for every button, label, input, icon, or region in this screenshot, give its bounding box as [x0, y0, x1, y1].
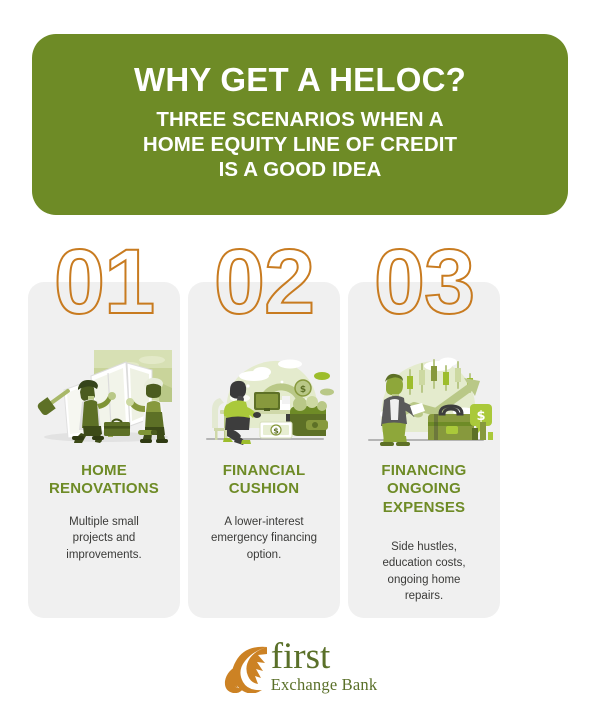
- card-number-03: 03: [348, 236, 500, 328]
- businessman-briefcase-growth-chart-icon: $: [354, 340, 494, 452]
- home-renovation-workers-window-icon: [34, 340, 174, 452]
- card-body-financial-cushion: A lower-interest emergency financing opt…: [198, 514, 330, 563]
- page-subtitle-line-2: HOME EQUITY LINE OF CREDIT: [143, 132, 457, 157]
- scenario-card-financing-ongoing-expenses: 03: [348, 282, 500, 618]
- card-body-line-4: repairs.: [358, 588, 490, 604]
- card-number-02: 02: [188, 236, 340, 328]
- page-subtitle-line-3: IS A GOOD IDEA: [143, 157, 457, 182]
- logo-secondary-text: Exchange Bank: [271, 676, 378, 693]
- card-heading-line-1: FINANCING: [354, 462, 494, 480]
- card-heading-financing-ongoing-expenses: FINANCING ONGOING EXPENSES: [354, 462, 494, 517]
- card-body-line-1: Side hustles,: [358, 539, 490, 555]
- footer-logo: first Exchange Bank: [0, 636, 600, 698]
- logo-lockup: first Exchange Bank: [223, 640, 378, 693]
- header-banner: WHY GET A HELOC? THREE SCENARIOS WHEN A …: [32, 34, 568, 215]
- card-body-line-2: emergency financing: [198, 530, 330, 546]
- svg-text:$: $: [273, 427, 279, 436]
- card-body-line-1: A lower-interest: [198, 514, 330, 530]
- leaf-feather-icon: [223, 643, 275, 693]
- card-heading-financial-cushion: FINANCIAL CUSHION: [194, 462, 334, 499]
- scenario-card-financial-cushion: 02: [188, 282, 340, 618]
- card-heading-line-2: ONGOING: [354, 480, 494, 498]
- card-body-line-2: projects and: [38, 530, 170, 546]
- card-body-home-renovations: Multiple small projects and improvements…: [38, 514, 170, 563]
- card-body-line-2: education costs,: [358, 555, 490, 571]
- card-body-line-3: improvements.: [38, 547, 170, 563]
- scenario-card-home-renovations: 01: [28, 282, 180, 618]
- woman-at-desk-wallet-money-icon: $ $: [194, 340, 334, 452]
- card-heading-line-1: HOME: [34, 462, 174, 480]
- card-body-line-3: option.: [198, 547, 330, 563]
- card-number-01: 01: [28, 236, 180, 328]
- logo-text: first Exchange Bank: [271, 640, 378, 693]
- card-body-line-1: Multiple small: [38, 514, 170, 530]
- page-subtitle-line-1: THREE SCENARIOS WHEN A: [143, 107, 457, 132]
- card-heading-line-1: FINANCIAL: [194, 462, 334, 480]
- card-heading-line-3: EXPENSES: [354, 499, 494, 517]
- card-heading-home-renovations: HOME RENOVATIONS: [34, 462, 174, 499]
- logo-primary-text: first: [271, 640, 378, 675]
- card-body-line-3: ongoing home: [358, 572, 490, 588]
- card-heading-line-2: RENOVATIONS: [34, 480, 174, 498]
- svg-text:$: $: [476, 409, 485, 424]
- card-heading-line-2: CUSHION: [194, 480, 334, 498]
- page-subtitle: THREE SCENARIOS WHEN A HOME EQUITY LINE …: [143, 107, 457, 182]
- scenario-cards-row: 01: [28, 282, 500, 618]
- svg-text:$: $: [300, 385, 306, 395]
- page-title: WHY GET A HELOC?: [134, 63, 466, 98]
- card-body-financing-ongoing-expenses: Side hustles, education costs, ongoing h…: [358, 539, 490, 604]
